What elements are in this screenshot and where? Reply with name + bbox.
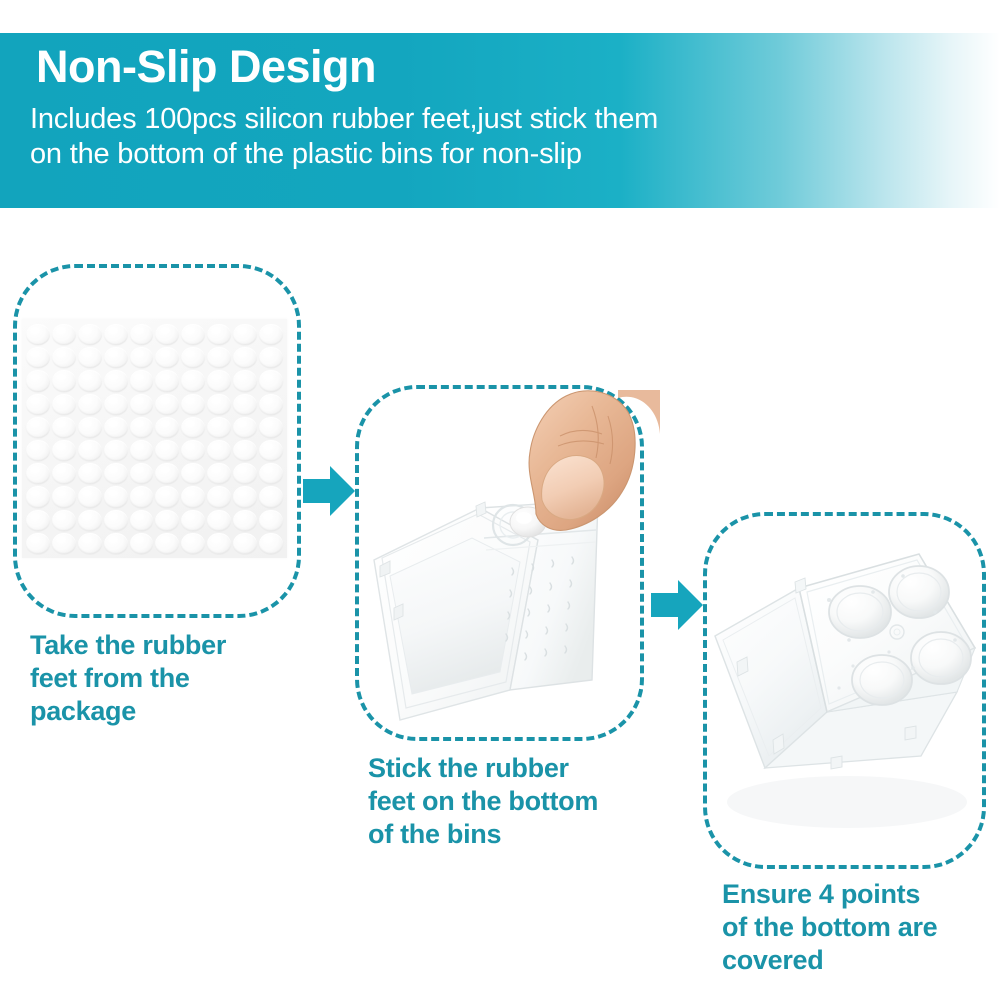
rubber-foot <box>207 417 231 438</box>
banner-subtitle: Includes 100pcs silicon rubber feet,just… <box>30 102 930 173</box>
rubber-foot <box>259 347 283 368</box>
rubber-foot <box>181 347 205 368</box>
rubber-foot <box>52 347 76 368</box>
step-2-caption-line-2: feet on the bottom <box>368 785 678 818</box>
rubber-foot <box>259 370 283 391</box>
step-3-caption-line-3: covered <box>722 944 1000 977</box>
rubber-foot <box>155 533 179 554</box>
rubber-foot <box>207 510 231 531</box>
rubber-foot <box>26 394 50 415</box>
rubber-foot <box>181 486 205 507</box>
rubber-foot <box>259 463 283 484</box>
rubber-foot <box>26 533 50 554</box>
banner-subtitle-line-2: on the bottom of the plastic bins for no… <box>30 137 930 172</box>
rubber-foot <box>130 324 154 345</box>
rubber-foot <box>26 510 50 531</box>
bin-underside-illustration <box>707 540 985 845</box>
rubber-foot <box>104 394 128 415</box>
step-1-caption-line-3: package <box>30 695 330 728</box>
rubber-foot <box>155 417 179 438</box>
step-3-caption-line-2: of the bottom are <box>722 911 1000 944</box>
rubber-foot <box>233 440 257 461</box>
rubber-foot <box>207 533 231 554</box>
rubber-foot <box>52 440 76 461</box>
rubber-foot <box>207 463 231 484</box>
rubber-foot <box>52 486 76 507</box>
rubber-foot <box>259 394 283 415</box>
rubber-foot <box>207 370 231 391</box>
rubber-foot <box>52 324 76 345</box>
rubber-foot <box>181 324 205 345</box>
step-2-caption: Stick the rubber feet on the bottom of t… <box>368 752 678 851</box>
rubber-foot <box>130 347 154 368</box>
rubber-foot <box>26 486 50 507</box>
rubber-foot <box>181 463 205 484</box>
arrow-right-icon-1 <box>303 464 355 518</box>
rubber-foot <box>52 533 76 554</box>
rubber-foot <box>26 324 50 345</box>
rubber-foot <box>155 486 179 507</box>
rubber-foot <box>104 347 128 368</box>
rubber-foot <box>130 394 154 415</box>
rubber-foot <box>104 510 128 531</box>
rubber-foot <box>181 533 205 554</box>
rubber-foot <box>259 486 283 507</box>
rubber-foot <box>78 394 102 415</box>
rubber-foot <box>130 463 154 484</box>
rubber-foot <box>181 440 205 461</box>
header-banner: Non-Slip Design Includes 100pcs silicon … <box>0 33 1000 208</box>
rubber-foot <box>130 510 154 531</box>
rubber-foot <box>78 370 102 391</box>
rubber-foot <box>233 347 257 368</box>
rubber-foot <box>207 324 231 345</box>
rubber-foot <box>104 486 128 507</box>
rubber-foot <box>26 440 50 461</box>
rubber-foot <box>181 370 205 391</box>
rubber-foot <box>130 370 154 391</box>
rubber-foot <box>233 533 257 554</box>
rubber-foot <box>155 347 179 368</box>
rubber-foot <box>259 417 283 438</box>
rubber-foot <box>207 347 231 368</box>
rubber-foot <box>104 417 128 438</box>
rubber-foot <box>155 463 179 484</box>
rubber-foot <box>26 417 50 438</box>
rubber-foot <box>181 417 205 438</box>
rubber-foot <box>104 463 128 484</box>
rubber-foot <box>52 463 76 484</box>
rubber-foot <box>259 440 283 461</box>
rubber-foot <box>233 370 257 391</box>
rubber-foot <box>78 463 102 484</box>
rubber-foot <box>52 510 76 531</box>
rubber-foot <box>130 417 154 438</box>
rubber-foot <box>259 533 283 554</box>
rubber-foot <box>259 510 283 531</box>
rubber-foot <box>207 486 231 507</box>
step-1-caption: Take the rubber feet from the package <box>30 629 330 728</box>
rubber-foot <box>207 440 231 461</box>
page-title: Non-Slip Design <box>36 44 376 89</box>
rubber-foot <box>181 394 205 415</box>
rubber-foot <box>52 417 76 438</box>
rubber-foot <box>104 324 128 345</box>
rubber-foot <box>155 324 179 345</box>
rubber-feet-grid <box>25 323 284 555</box>
rubber-foot <box>78 324 102 345</box>
rubber-foot <box>26 463 50 484</box>
rubber-foot <box>78 533 102 554</box>
rubber-foot <box>104 370 128 391</box>
rubber-foot <box>78 417 102 438</box>
step-2-caption-line-3: of the bins <box>368 818 678 851</box>
rubber-foot <box>233 324 257 345</box>
rubber-foot <box>78 486 102 507</box>
arrow-right-icon-2 <box>651 578 703 632</box>
step-1-caption-line-1: Take the rubber <box>30 629 330 662</box>
rubber-foot <box>181 510 205 531</box>
rubber-foot <box>233 394 257 415</box>
rubber-foot <box>155 370 179 391</box>
rubber-foot <box>130 486 154 507</box>
rubber-foot <box>259 324 283 345</box>
rubber-foot <box>233 463 257 484</box>
rubber-foot <box>207 394 231 415</box>
rubber-foot <box>155 510 179 531</box>
rubber-foot <box>78 440 102 461</box>
rubber-foot <box>233 417 257 438</box>
rubber-foot <box>78 510 102 531</box>
rubber-foot <box>155 394 179 415</box>
rubber-foot <box>130 533 154 554</box>
infographic-canvas: Non-Slip Design Includes 100pcs silicon … <box>0 0 1000 1000</box>
hand-and-bin-illustration <box>360 390 660 742</box>
rubber-foot <box>233 486 257 507</box>
step-2-caption-line-1: Stick the rubber <box>368 752 678 785</box>
rubber-foot <box>52 370 76 391</box>
rubber-foot <box>233 510 257 531</box>
rubber-feet-sheet-image <box>22 319 287 558</box>
rubber-foot <box>26 347 50 368</box>
banner-subtitle-line-1: Includes 100pcs silicon rubber feet,just… <box>30 102 930 137</box>
rubber-foot <box>104 440 128 461</box>
rubber-foot <box>78 347 102 368</box>
step-3-caption: Ensure 4 points of the bottom are covere… <box>722 878 1000 977</box>
rubber-foot <box>26 370 50 391</box>
step-1-caption-line-2: feet from the <box>30 662 330 695</box>
rubber-foot <box>52 394 76 415</box>
rubber-foot <box>130 440 154 461</box>
rubber-foot <box>155 440 179 461</box>
step-3-caption-line-1: Ensure 4 points <box>722 878 1000 911</box>
rubber-foot <box>104 533 128 554</box>
